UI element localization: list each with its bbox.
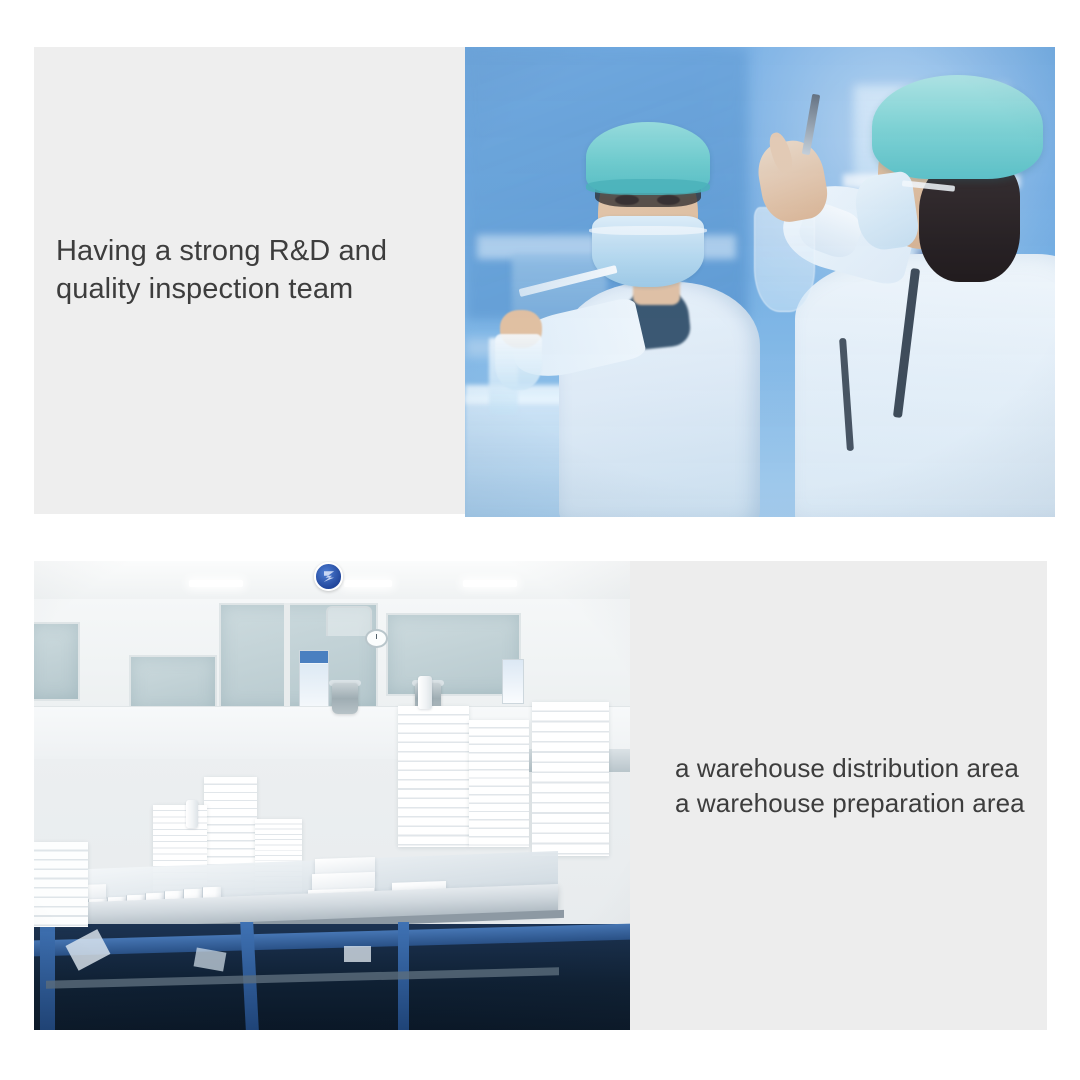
section-rnd-quality: Having a strong R&D and quality inspecti… bbox=[34, 47, 1055, 517]
caption-panel-rnd: Having a strong R&D and quality inspecti… bbox=[34, 47, 465, 514]
section-warehouse-areas: a warehouse distribution area a warehous… bbox=[34, 561, 1047, 1030]
caption-warehouse-line-1: a warehouse distribution area bbox=[675, 751, 1075, 786]
caption-rnd-line-2: quality inspection team bbox=[56, 271, 456, 309]
warehouse-packing-area-photo bbox=[34, 561, 630, 1030]
caption-warehouse-areas: a warehouse distribution area a warehous… bbox=[675, 751, 1075, 820]
caption-panel-warehouse: a warehouse distribution area a warehous… bbox=[630, 561, 1047, 1030]
lab-photo-vignette bbox=[465, 47, 1055, 517]
caption-warehouse-line-2: a warehouse preparation area bbox=[675, 786, 1075, 821]
slide-page: Having a strong R&D and quality inspecti… bbox=[0, 0, 1080, 1080]
lab-rnd-quality-inspection-photo bbox=[465, 47, 1055, 517]
caption-rnd-line-1: Having a strong R&D and bbox=[56, 233, 456, 271]
caption-rnd-quality: Having a strong R&D and quality inspecti… bbox=[56, 233, 456, 309]
warehouse-photo-vignette bbox=[34, 561, 630, 1030]
